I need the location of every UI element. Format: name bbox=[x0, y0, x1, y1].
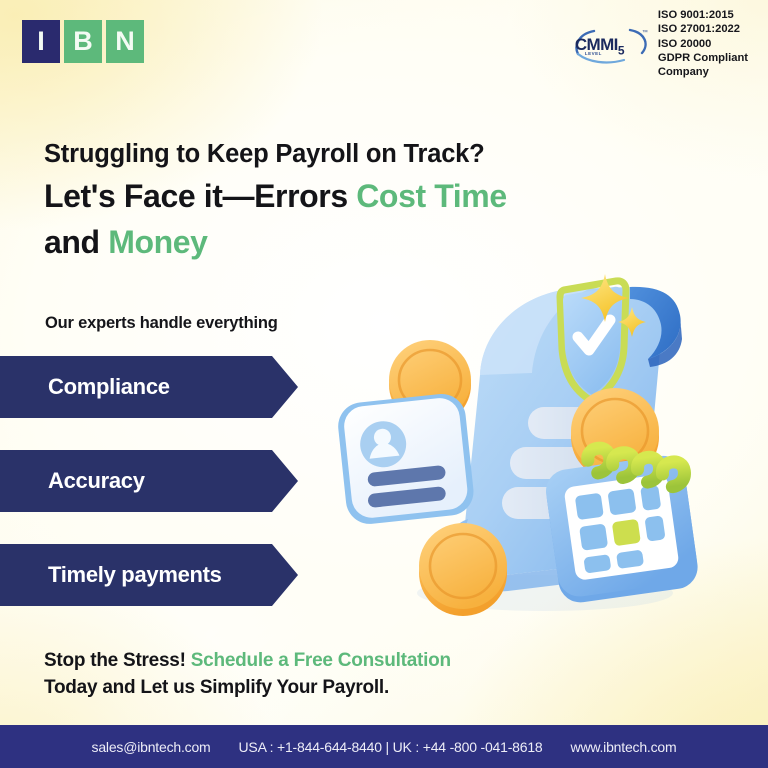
footer-phone-numbers[interactable]: USA : +1-844-644-8440 | UK : +44 -800 -0… bbox=[239, 739, 543, 755]
cert-line-gdpr: GDPR Compliant bbox=[658, 51, 748, 65]
ibn-logo[interactable]: I B N bbox=[22, 20, 144, 63]
subheading: Our experts handle everything bbox=[45, 314, 278, 333]
contact-footer-bar: sales@ibntech.com USA : +1-844-644-8440 … bbox=[0, 725, 768, 768]
feature-banner-compliance[interactable]: Compliance bbox=[0, 356, 298, 418]
certification-list: ISO 9001:2015 ISO 27001:2022 ISO 20000 G… bbox=[658, 8, 748, 80]
logo-letter-b: B bbox=[64, 20, 102, 63]
headline-line-3-plain: and bbox=[44, 224, 108, 260]
logo-letter-n: N bbox=[106, 20, 144, 63]
logo-letter-i: I bbox=[22, 20, 60, 63]
headline-line-2-accent: Cost Time bbox=[356, 178, 507, 214]
cta-line-1-plain: Stop the Stress! bbox=[44, 650, 191, 671]
feature-banner-accuracy-label: Accuracy bbox=[48, 468, 145, 494]
headline: Struggling to Keep Payroll on Track? Let… bbox=[44, 140, 507, 261]
feature-banner-timely-payments[interactable]: Timely payments bbox=[0, 544, 298, 606]
id-card-avatar-icon bbox=[336, 392, 476, 527]
cmmi-level-label: LEVEL bbox=[585, 51, 602, 56]
headline-line-2: Let's Face it—Errors Cost Time bbox=[44, 178, 507, 215]
headline-line-3: and Money bbox=[44, 224, 507, 261]
cta-line-2: Today and Let us Simplify Your Payroll. bbox=[44, 675, 451, 702]
footer-website[interactable]: www.ibntech.com bbox=[571, 739, 677, 755]
cmmi-level-number: 5 bbox=[618, 43, 624, 57]
coin-icon bbox=[419, 523, 507, 616]
cta-line-1: Stop the Stress! Schedule a Free Consult… bbox=[44, 648, 451, 675]
cmmi-trademark-mark: ™ bbox=[642, 30, 648, 36]
cert-line-company: Company bbox=[658, 65, 748, 79]
cert-line-iso9001: ISO 9001:2015 bbox=[658, 8, 748, 22]
feature-banner-timely-payments-label: Timely payments bbox=[48, 562, 222, 588]
certification-badge: CMMI5 ™ LEVEL ISO 9001:2015 ISO 27001:20… bbox=[572, 8, 748, 80]
footer-email[interactable]: sales@ibntech.com bbox=[92, 739, 211, 755]
cmmi-logo-icon: CMMI5 ™ LEVEL bbox=[572, 21, 652, 67]
headline-line-3-accent: Money bbox=[108, 224, 207, 260]
cert-line-iso27001: ISO 27001:2022 bbox=[658, 22, 748, 36]
cta-schedule-link[interactable]: Schedule a Free Consultation bbox=[191, 650, 451, 671]
feature-banner-accuracy[interactable]: Accuracy bbox=[0, 450, 298, 512]
cert-line-iso20000: ISO 20000 bbox=[658, 37, 748, 51]
call-to-action: Stop the Stress! Schedule a Free Consult… bbox=[44, 648, 451, 702]
payroll-illustration bbox=[330, 255, 760, 625]
feature-banner-compliance-label: Compliance bbox=[48, 374, 170, 400]
headline-line-2-plain: Let's Face it—Errors bbox=[44, 178, 356, 214]
headline-line-1: Struggling to Keep Payroll on Track? bbox=[44, 140, 507, 169]
